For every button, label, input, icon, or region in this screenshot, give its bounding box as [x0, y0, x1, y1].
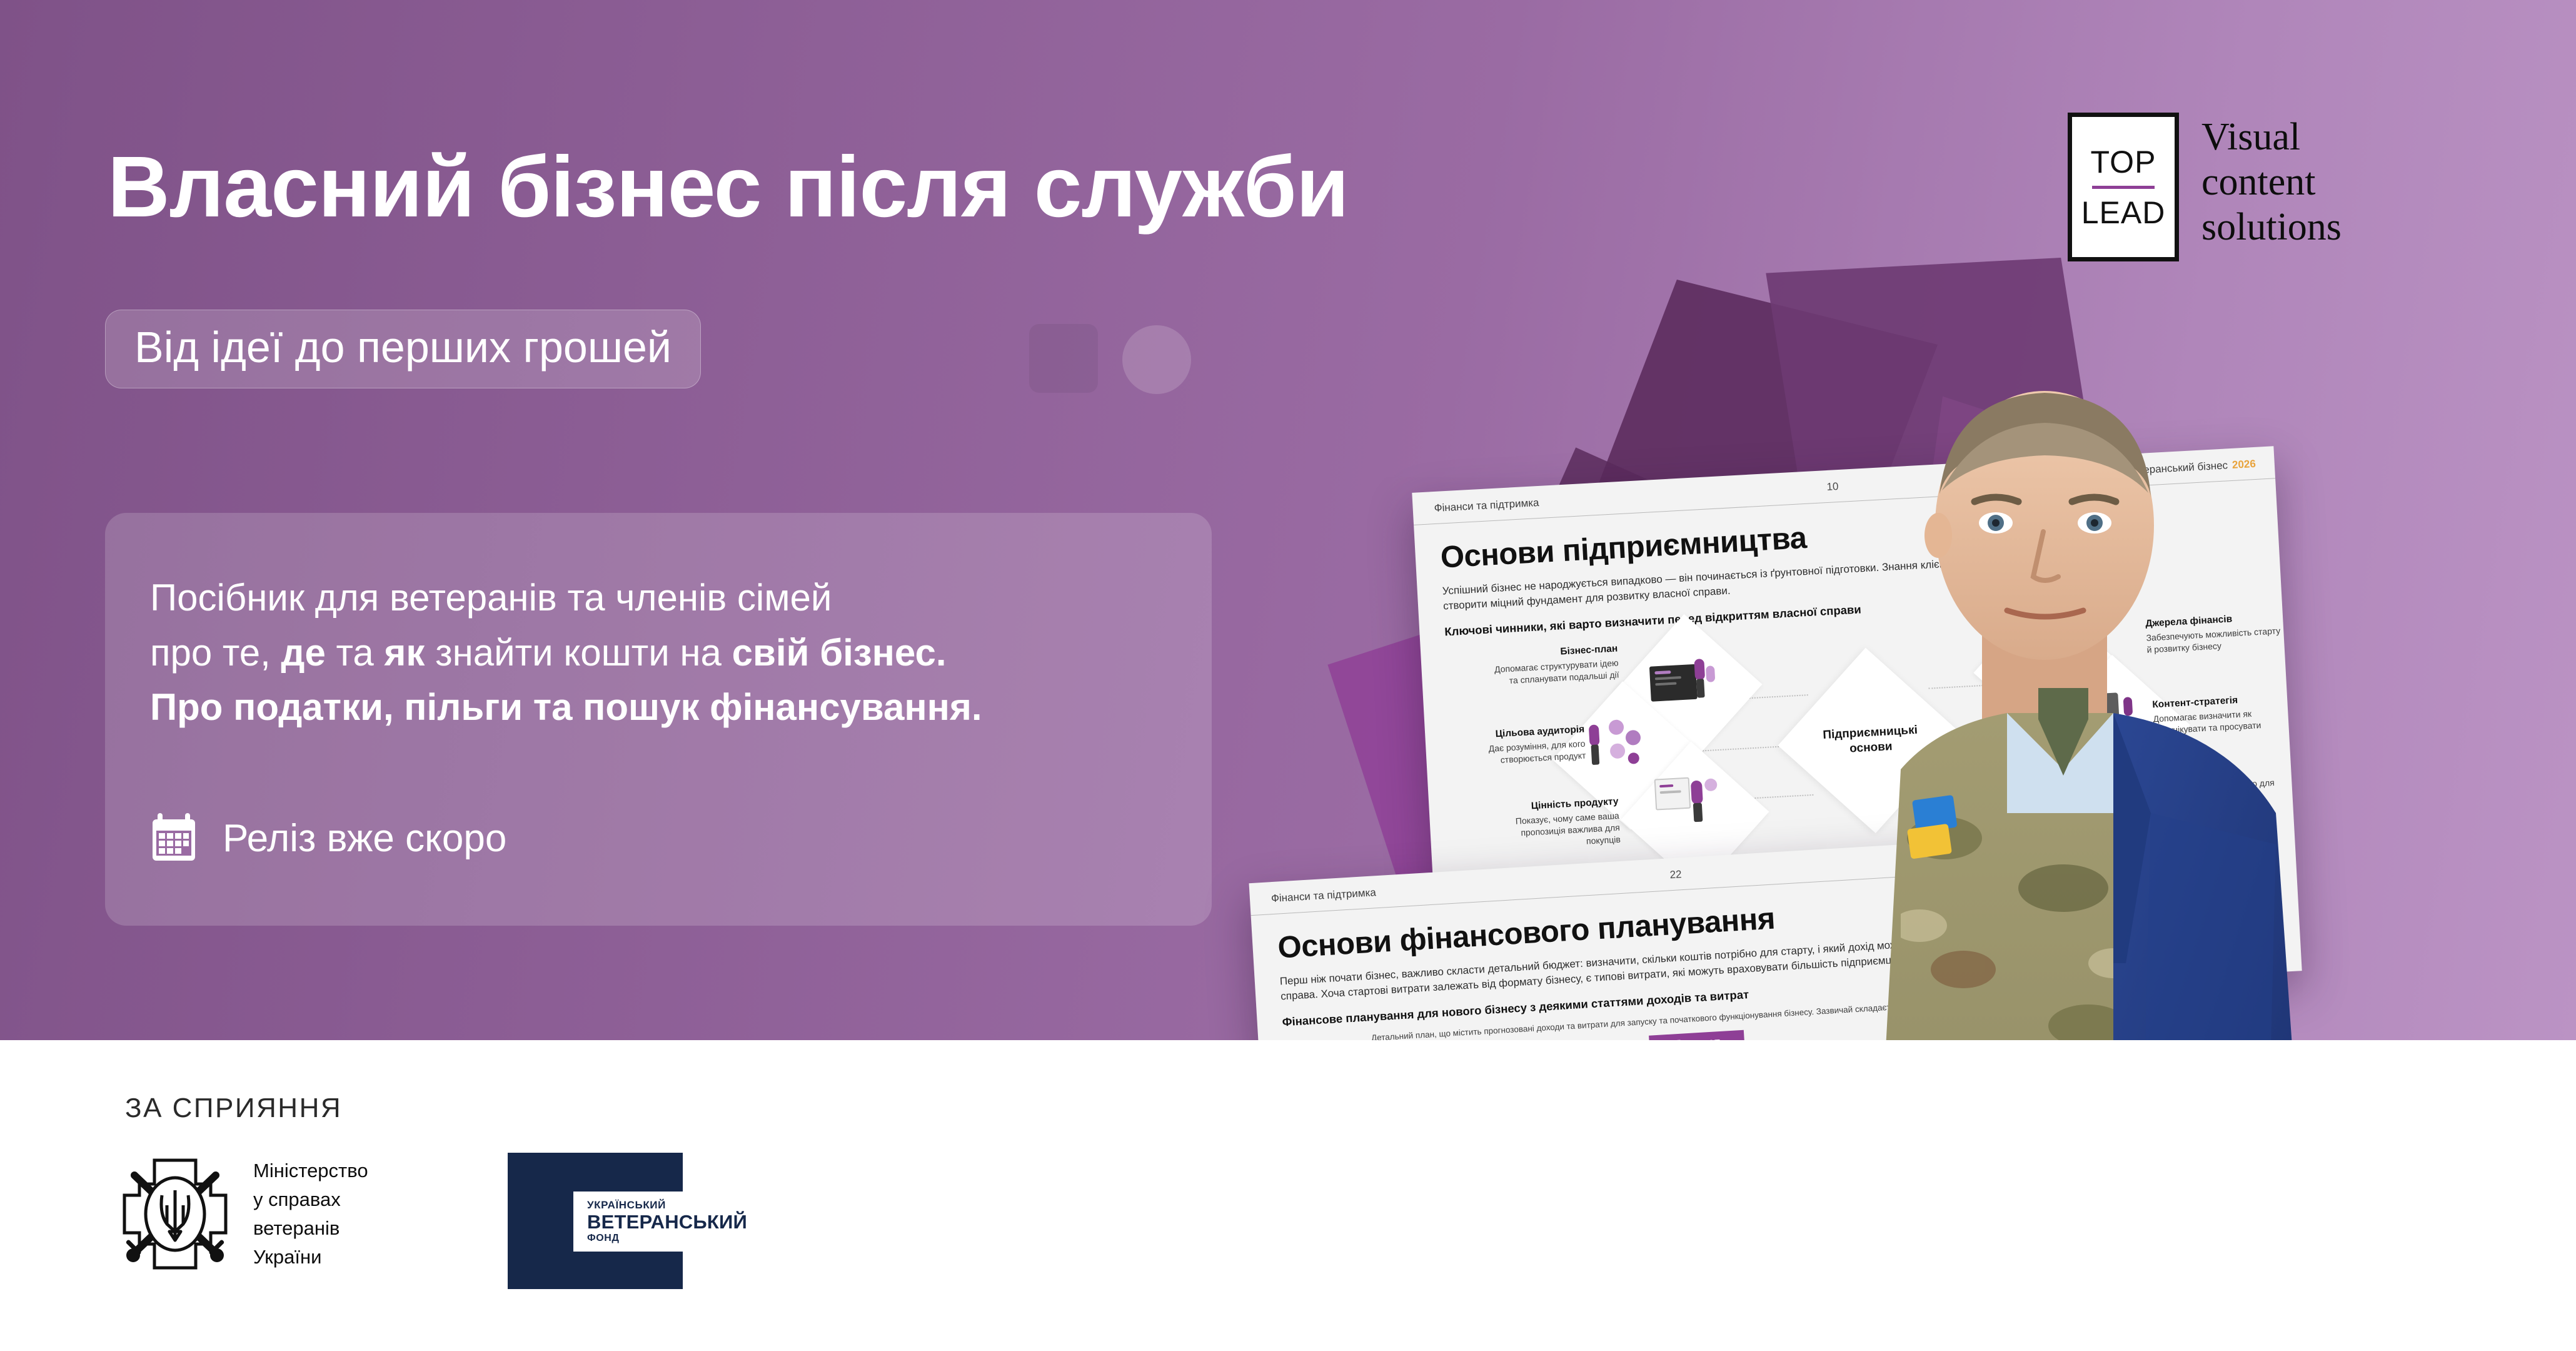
doc1-node-0: Бізнес-план Допомагає структурувати ідею… — [1483, 644, 1619, 688]
veteran-portrait — [1713, 338, 2538, 1040]
sponsor-ministry: Міністерство у справах ветеранів України — [116, 1151, 368, 1277]
hero-band: Фінанси та підтримка 10 Ветеранський біз… — [0, 0, 2576, 1040]
uvf-line-3: ФОНД — [587, 1233, 823, 1244]
doc2-page-number: 22 — [1669, 868, 1682, 881]
description-line-2: про те, де та як знайти кошти на свій бі… — [150, 625, 1167, 681]
tagline-line-2: content — [2201, 160, 2342, 205]
page-title: Власний бізнес після служби — [108, 143, 1921, 233]
decor-circle — [1122, 325, 1191, 394]
tagline-line-1: Visual — [2201, 115, 2342, 160]
ministry-line-4: України — [253, 1243, 368, 1272]
toplead-top: TOP — [2091, 146, 2156, 178]
release-status: Реліз вже скоро — [150, 813, 506, 863]
subtitle-text: Від ідеї до перших грошей — [134, 323, 672, 372]
doc1-node-2: Цільова аудиторія Дає розуміння, для ког… — [1450, 724, 1586, 769]
footer-band: ЗА СПРИЯННЯ — [0, 1040, 2576, 1351]
description-line-3: Про податки, пільги та пошук фінансуванн… — [150, 680, 1167, 735]
toplead-bottom: LEAD — [2081, 197, 2166, 228]
uvf-wordmark: УКРАЇНСЬКИЙ ВЕТЕРАНСЬКИЙ ФОНД — [573, 1192, 823, 1252]
ministry-name: Міністерство у справах ветеранів України — [253, 1156, 368, 1272]
ministry-line-1: Міністерство — [253, 1156, 368, 1185]
uvf-line-1: УКРАЇНСЬКИЙ — [587, 1199, 823, 1212]
ministry-line-2: у справах — [253, 1185, 368, 1214]
release-text: Реліз вже скоро — [223, 816, 506, 861]
decor-square — [1029, 324, 1098, 393]
footer-kicker: ЗА СПРИЯННЯ — [125, 1093, 342, 1124]
ministry-line-3: ветеранів — [253, 1214, 368, 1243]
sponsor-veteran-fund: УКРАЇНСЬКИЙ ВЕТЕРАНСЬКИЙ ФОНД — [508, 1153, 683, 1289]
description-line-1: Посібник для ветеранів та членів сімей — [150, 570, 1167, 625]
brand-tagline: Visual content solutions — [2201, 113, 2342, 250]
brand-logo[interactable]: TOP LEAD Visual content solutions — [2068, 113, 2342, 261]
doc1-node-4: Цінність продукту Показує, чому саме ваш… — [1484, 796, 1621, 853]
doc2-header-left: Фінанси та підтримка — [1270, 886, 1376, 905]
toplead-mark: TOP LEAD — [2068, 113, 2179, 261]
uvf-line-2: ВЕТЕРАНСЬКИЙ — [587, 1212, 823, 1232]
subtitle-pill: Від ідеї до перших грошей — [105, 310, 701, 388]
calendar-icon — [150, 813, 198, 863]
doc1-header-left: Фінанси та підтримка — [1434, 497, 1539, 515]
description-card: Посібник для ветеранів та членів сімей п… — [105, 513, 1212, 926]
ministry-emblem-icon — [116, 1151, 234, 1277]
promo-banner: Фінанси та підтримка 10 Ветеранський біз… — [0, 0, 2576, 1351]
toplead-rule — [2092, 186, 2155, 189]
tagline-line-3: solutions — [2201, 205, 2342, 250]
